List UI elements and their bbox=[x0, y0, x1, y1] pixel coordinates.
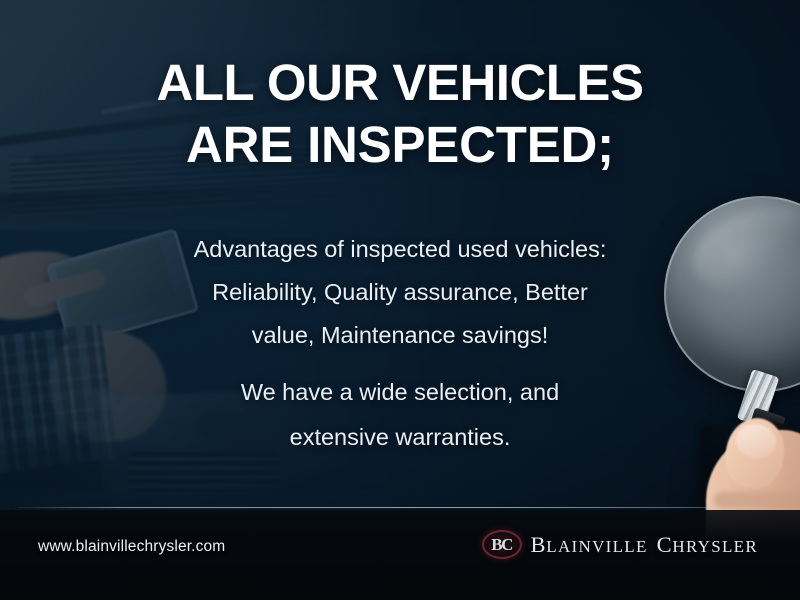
brand-hrysler: HRYSLER bbox=[672, 537, 758, 556]
footer-divider bbox=[18, 507, 782, 508]
body-paragraph-1: Advantages of inspected used vehicles: R… bbox=[0, 228, 800, 357]
bc-monogram-badge: BC bbox=[482, 530, 522, 559]
headline: ALL OUR VEHICLES ARE INSPECTED; bbox=[0, 52, 800, 176]
headline-line-2: ARE INSPECTED; bbox=[0, 114, 800, 176]
brand-c: C bbox=[657, 532, 673, 557]
brand-lainville: LAINVILLE bbox=[546, 537, 647, 556]
brand-b: B bbox=[531, 532, 547, 557]
website-url[interactable]: www.blainvillechrysler.com bbox=[38, 538, 225, 556]
headline-line-1: ALL OUR VEHICLES bbox=[0, 52, 800, 114]
body-p1-line-3: value, Maintenance savings! bbox=[0, 314, 800, 357]
body-p1-line-1: Advantages of inspected used vehicles: bbox=[0, 228, 800, 271]
body-p1-line-2: Reliability, Quality assurance, Better bbox=[0, 271, 800, 314]
body-paragraph-2: We have a wide selection, and extensive … bbox=[0, 370, 800, 460]
body-p2-line-2: extensive warranties. bbox=[0, 415, 800, 460]
dealership-name: BLAINVILLECHRYSLER bbox=[531, 532, 758, 558]
dealership-logo[interactable]: BC BLAINVILLECHRYSLER bbox=[482, 530, 758, 559]
promo-banner: ALL OUR VEHICLES ARE INSPECTED; Advantag… bbox=[0, 0, 800, 600]
bc-monogram-text: BC bbox=[491, 536, 512, 553]
body-p2-line-1: We have a wide selection, and bbox=[0, 370, 800, 415]
